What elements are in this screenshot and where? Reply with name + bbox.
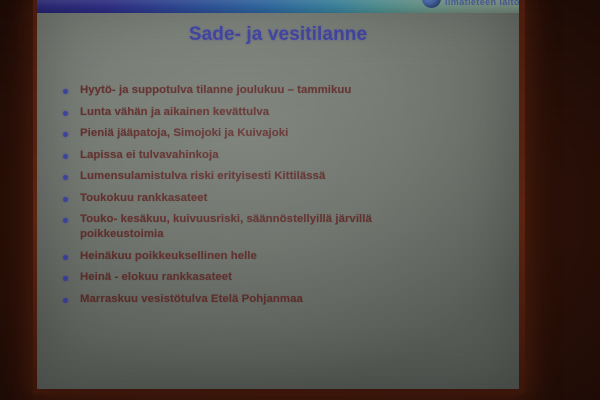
list-item-label: Lapissa ei tulvavahinkoja (80, 148, 219, 163)
list-item: Pieniä jääpatoja, Simojoki ja Kuivajoki (63, 126, 513, 141)
list-item: Lunta vähän ja aikainen kevättulva (63, 105, 513, 120)
list-item: Heinä - elokuu rankkasateet (63, 270, 513, 285)
bullet-dot-icon (63, 132, 68, 137)
bullet-dot-icon (63, 154, 68, 159)
bullet-dot-icon (63, 298, 68, 303)
bullet-dot-icon (63, 175, 68, 180)
list-item-label: Toukokuu rankkasateet (80, 191, 207, 206)
bullet-dot-icon (63, 255, 68, 260)
bullet-dot-icon (63, 218, 68, 223)
list-item: Hyytö- ja suppotulva tilanne joulukuu – … (63, 83, 513, 98)
bullet-dot-icon (63, 111, 68, 116)
bullet-dot-icon (63, 89, 68, 94)
list-item: Lapissa ei tulvavahinkoja (63, 148, 513, 163)
bullet-dot-icon (63, 197, 68, 202)
organisation-logo: Ilmatieteen laitos (422, 0, 519, 8)
bullet-dot-icon (63, 276, 68, 281)
list-item-label: Touko- kesäkuu, kuivuusriski, säännöstel… (80, 212, 372, 242)
list-item: Marraskuu vesistötulva Etelä Pohjanmaa (63, 292, 513, 307)
slide-bullet-list: Hyytö- ja suppotulva tilanne joulukuu – … (63, 83, 513, 313)
presentation-slide: Ilmatieteen laitos Sade- ja vesitilanne … (37, 0, 519, 389)
list-item-label: Lunta vähän ja aikainen kevättulva (80, 105, 269, 120)
list-item-label: Pieniä jääpatoja, Simojoki ja Kuivajoki (80, 126, 288, 141)
globe-logo-icon (422, 0, 441, 8)
list-item-label: Lumensulamistulva riski erityisesti Kitt… (80, 169, 325, 184)
list-item: Heinäkuu poikkeuksellinen helle (63, 249, 513, 264)
list-item-label: Heinäkuu poikkeuksellinen helle (80, 249, 257, 264)
list-item: Lumensulamistulva riski erityisesti Kitt… (63, 169, 513, 184)
room-background: Ilmatieteen laitos Sade- ja vesitilanne … (0, 0, 600, 400)
list-item: Toukokuu rankkasateet (63, 191, 513, 206)
list-item-label: Heinä - elokuu rankkasateet (80, 270, 232, 285)
list-item-label: Hyytö- ja suppotulva tilanne joulukuu – … (80, 83, 351, 98)
list-item-label: Marraskuu vesistötulva Etelä Pohjanmaa (80, 292, 303, 307)
organisation-logo-text: Ilmatieteen laitos (445, 0, 519, 8)
list-item-label-continuation: poikkeustoimia (80, 227, 372, 242)
slide-title: Sade- ja vesitilanne (37, 24, 519, 46)
list-item: Touko- kesäkuu, kuivuusriski, säännöstel… (63, 212, 513, 242)
